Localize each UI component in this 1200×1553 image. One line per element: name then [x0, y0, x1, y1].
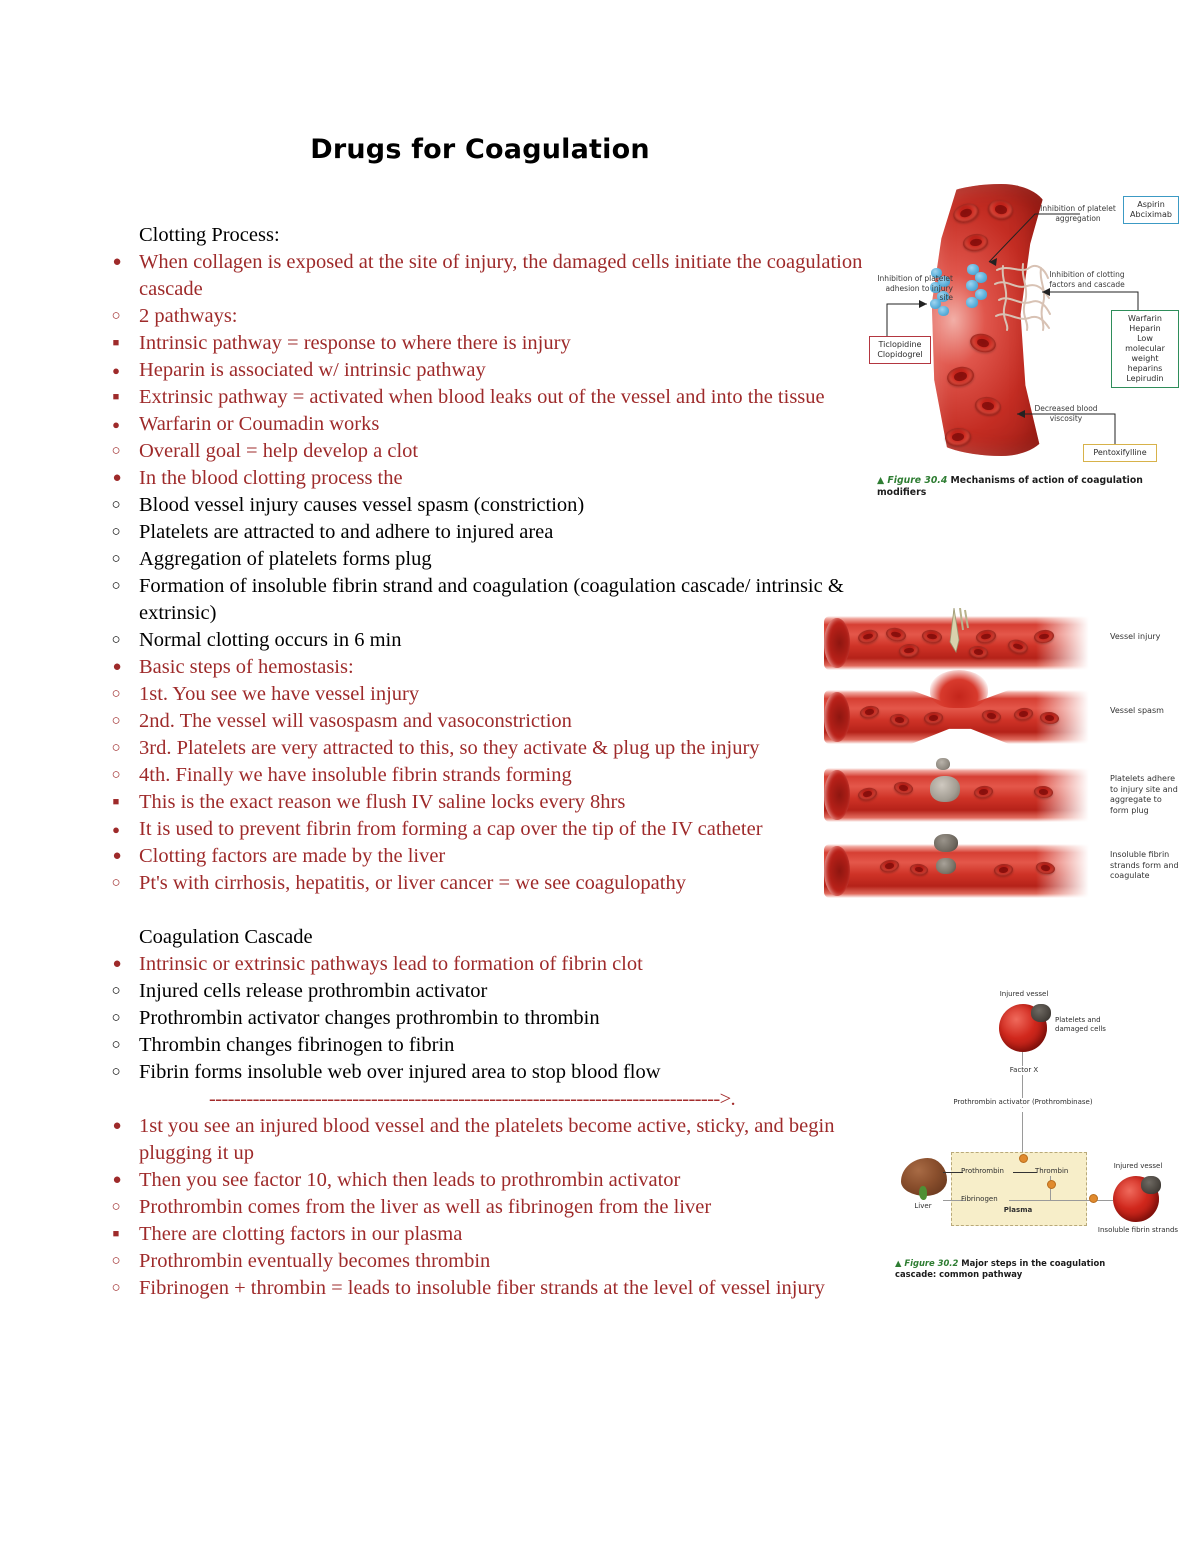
list-item: ■There are clotting factors in our plasm…	[139, 1221, 884, 1248]
bleeding-spot-icon	[930, 670, 988, 708]
list-item-text: Normal clotting occurs in 6 min	[139, 627, 884, 654]
bullet-list-level3: ■This is the exact reason we flush IV sa…	[139, 789, 884, 843]
bullet-square-icon: ■	[109, 330, 123, 357]
figure-30-2: Injured vessel Platelets and damaged cel…	[895, 990, 1185, 1300]
list-item-text: 2nd. The vessel will vasospasm and vasoc…	[139, 708, 884, 735]
list-item: ○Prothrombin comes from the liver as wel…	[139, 1194, 884, 1248]
label-factor-x: Factor X	[999, 1066, 1049, 1075]
list-item-text: Prothrombin activator changes prothrombi…	[139, 1005, 884, 1032]
bullet-disc-icon: ●	[110, 1113, 124, 1140]
caption-triangle-icon: ▲	[895, 1258, 901, 1268]
drug-box-pentoxifylline: Pentoxifylline	[1083, 444, 1157, 462]
list-item-text: Pt's with cirrhosis, hepatitis, or liver…	[139, 870, 884, 897]
bullet-circle-icon: ○	[109, 573, 123, 600]
list-item: ■Extrinsic pathway = activated when bloo…	[139, 384, 884, 438]
list-item: ○Prothrombin activator changes prothromb…	[139, 1005, 884, 1032]
list-item-text: 3rd. Platelets are very attracted to thi…	[139, 735, 884, 762]
drug-box-aspirin: Aspirin Abciximab	[1123, 196, 1179, 224]
bullet-list-level4: ●Warfarin or Coumadin works	[139, 411, 884, 438]
bullet-circle-icon: ○	[109, 519, 123, 546]
list-item: ○Blood vessel injury causes vessel spasm…	[139, 492, 884, 519]
list-item-text: Clotting factors are made by the liver	[139, 843, 884, 870]
bullet-circle-icon: ○	[109, 681, 123, 708]
section-heading-coagulation-cascade: Coagulation Cascade	[139, 924, 884, 951]
list-item-text: Intrinsic pathway = response to where th…	[139, 330, 884, 357]
document-page: Drugs for Coagulation Clotting Process: …	[0, 0, 1200, 1553]
list-item-text: Heparin is associated w/ intrinsic pathw…	[139, 357, 884, 384]
bullet-circle-icon: ○	[109, 1194, 123, 1221]
list-item-text: In the blood clotting process the	[139, 465, 884, 492]
section-heading-clotting-process: Clotting Process:	[139, 222, 884, 249]
bullet-circle-icon: ○	[109, 546, 123, 573]
caption-triangle-icon: ▲	[877, 475, 884, 486]
list-item: ○Overall goal = help develop a clot	[139, 438, 884, 465]
bullet-circle-icon: ○	[109, 708, 123, 735]
platelet-icon	[938, 306, 949, 316]
list-item: ○Fibrinogen + thrombin = leads to insolu…	[139, 1275, 959, 1302]
list-item-text: Platelets are attracted to and adhere to…	[139, 519, 884, 546]
drug-box-ticlopidine: Ticlopidine Clopidogrel	[869, 336, 931, 364]
bullet-list-level2: ○Injured cells release prothrombin activ…	[139, 978, 884, 1086]
bullet-disc-icon: ●	[110, 843, 124, 870]
enzyme-dot-icon	[1019, 1154, 1028, 1163]
bullet-list-level2: ○Prothrombin comes from the liver as wel…	[139, 1194, 884, 1302]
list-item-text: 2 pathways:	[139, 303, 884, 330]
dashed-arrow-divider: ----------------------------------------…	[209, 1086, 884, 1113]
figure-30-4: Inhibition of platelet aggregation Aspir…	[875, 182, 1180, 502]
cascade-arrow-3	[1022, 1112, 1023, 1156]
label-prothrombin-activator: Prothrombin activator (Prothrombinase)	[933, 1098, 1113, 1107]
bullet-circle-icon: ○	[109, 762, 123, 789]
list-item: ●Intrinsic or extrinsic pathways lead to…	[139, 951, 884, 1086]
label-fibrinogen: Fibrinogen	[961, 1195, 1011, 1204]
bullet-list-level3: ■Intrinsic pathway = response to where t…	[139, 330, 884, 438]
fibrin-clot-icon	[936, 858, 956, 874]
list-item-text: Basic steps of hemostasis:	[139, 654, 884, 681]
list-item-text: Blood vessel injury causes vessel spasm …	[139, 492, 884, 519]
list-item: ●Basic steps of hemostasis: ○1st. You se…	[139, 654, 884, 843]
bullet-disc-icon: ●	[109, 411, 123, 438]
list-item: ○Thrombin changes fibrinogen to fibrin	[139, 1032, 884, 1059]
list-item: ●1st you see an injured blood vessel and…	[139, 1113, 884, 1167]
enzyme-dot-icon	[1047, 1180, 1056, 1189]
step-label-insoluble-fibrin: Insoluble fibrin strands form and coagul…	[1110, 850, 1182, 882]
list-item: ●Then you see factor 10, which then lead…	[139, 1167, 884, 1302]
fibrin-clot-icon	[934, 834, 958, 852]
bullet-circle-icon: ○	[109, 627, 123, 654]
list-item-text: 4th. Finally we have insoluble fibrin st…	[139, 762, 884, 789]
bullet-list-level4: ●Heparin is associated w/ intrinsic path…	[139, 357, 884, 384]
list-item-text: Formation of insoluble fibrin strand and…	[139, 573, 884, 627]
list-item: ○Normal clotting occurs in 6 min	[139, 627, 884, 654]
label-injured-vessel-top: Injured vessel	[989, 990, 1059, 999]
section-spacer	[139, 897, 884, 924]
list-item-text: Intrinsic or extrinsic pathways lead to …	[139, 951, 884, 978]
bullet-circle-icon: ○	[109, 492, 123, 519]
bullet-circle-icon: ○	[109, 1059, 123, 1086]
list-item: ●When collagen is exposed at the site of…	[139, 249, 884, 465]
list-item: ○Aggregation of platelets forms plug	[139, 546, 884, 573]
bullet-list-level4: ●It is used to prevent fibrin from formi…	[139, 816, 884, 843]
list-item: ○Fibrin forms insoluble web over injured…	[139, 1059, 884, 1086]
platelet-damage-clot-icon	[1031, 1004, 1051, 1022]
list-item-text: It is used to prevent fibrin from formin…	[139, 816, 884, 843]
bullet-square-icon: ■	[109, 1221, 123, 1248]
caption-figure-number: Figure 30.2	[904, 1258, 958, 1268]
list-item-text: This is the exact reason we flush IV sal…	[139, 789, 884, 816]
list-item: ○Pt's with cirrhosis, hepatitis, or live…	[139, 870, 884, 897]
list-item: ■Intrinsic pathway = response to where t…	[139, 330, 884, 384]
bullet-list-level1-after: ●1st you see an injured blood vessel and…	[139, 1113, 884, 1302]
list-item-text: Fibrinogen + thrombin = leads to insolub…	[139, 1275, 959, 1302]
bullet-disc-icon: ●	[110, 465, 124, 492]
list-item: ○2 pathways: ■Intrinsic pathway = respon…	[139, 303, 884, 438]
bullet-disc-icon: ●	[110, 951, 124, 978]
list-item-text: Injured cells release prothrombin activa…	[139, 978, 884, 1005]
bullet-disc-icon: ●	[110, 1167, 124, 1194]
figure-hemostasis-steps: Vessel injury Vessel spasm Platelets adh…	[824, 608, 1184, 908]
drug-box-warfarin: Warfarin Heparin Low molecular weight he…	[1111, 310, 1179, 388]
list-item-text: Prothrombin comes from the liver as well…	[139, 1194, 884, 1221]
bullet-list-level3: ■There are clotting factors in our plasm…	[139, 1221, 884, 1248]
list-item: ○Platelets are attracted to and adhere t…	[139, 519, 884, 546]
figure-30-4-caption: ▲ Figure 30.4 Mechanisms of action of co…	[877, 475, 1181, 499]
list-item: ○4th. Finally we have insoluble fibrin s…	[139, 762, 884, 843]
label-insoluble-fibrin-strands: Insoluble fibrin strands	[1095, 1226, 1181, 1235]
list-item-text: Then you see factor 10, which then leads…	[139, 1167, 884, 1194]
list-item-text: Extrinsic pathway = activated when blood…	[139, 384, 884, 411]
platelet-clump-icon	[936, 758, 950, 770]
label-platelets-damaged-cells: Platelets and damaged cells	[1055, 1016, 1117, 1034]
gallbladder-icon	[919, 1186, 927, 1200]
platelet-plug-icon	[930, 776, 960, 802]
vessel-tube-fibrin	[824, 844, 1096, 898]
enzyme-dot-icon	[1089, 1194, 1098, 1203]
bullet-list-level2: ○2 pathways: ■Intrinsic pathway = respon…	[139, 303, 884, 465]
list-item-text: 1st. You see we have vessel injury	[139, 681, 884, 708]
bullet-list-level1: ●When collagen is exposed at the site of…	[139, 249, 884, 897]
prothrombin-to-thrombin-arrow	[1013, 1172, 1037, 1173]
list-item-text: There are clotting factors in our plasma	[139, 1221, 884, 1248]
bullet-disc-icon: ●	[110, 654, 124, 681]
bullet-circle-icon: ○	[109, 735, 123, 762]
list-item-text: Warfarin or Coumadin works	[139, 411, 884, 438]
bullet-list-level2: ○1st. You see we have vessel injury ○2nd…	[139, 681, 884, 843]
list-item: ●Warfarin or Coumadin works	[139, 411, 884, 438]
list-item: ●In the blood clotting process the ○Bloo…	[139, 465, 884, 654]
bullet-circle-icon: ○	[109, 870, 123, 897]
label-injured-vessel-right: Injured vessel	[1101, 1162, 1175, 1171]
list-item-text: Aggregation of platelets forms plug	[139, 546, 884, 573]
step-label-vessel-injury: Vessel injury	[1110, 632, 1180, 643]
list-item: ●Clotting factors are made by the liver …	[139, 843, 884, 897]
list-item: ○3rd. Platelets are very attracted to th…	[139, 735, 884, 762]
list-item-text: Overall goal = help develop a clot	[139, 438, 884, 465]
list-item: ●It is used to prevent fibrin from formi…	[139, 816, 884, 843]
list-item-text: Prothrombin eventually becomes thrombin	[139, 1248, 884, 1275]
leader-line-aggregation-icon	[975, 210, 1085, 272]
label-prothrombin: Prothrombin	[961, 1167, 1015, 1176]
list-item: ○1st. You see we have vessel injury	[139, 681, 884, 708]
caption-figure-number: Figure 30.4	[887, 475, 947, 486]
bullet-list-level2: ○Pt's with cirrhosis, hepatitis, or live…	[139, 870, 884, 897]
label-thrombin: Thrombin	[1035, 1167, 1081, 1176]
bullet-circle-icon: ○	[109, 438, 123, 465]
page-title: Drugs for Coagulation	[0, 134, 960, 165]
list-item: ○2nd. The vessel will vasospasm and vaso…	[139, 708, 884, 735]
step-label-platelets-adhere: Platelets adhere to injury site and aggr…	[1110, 774, 1182, 816]
list-item: ■This is the exact reason we flush IV sa…	[139, 789, 884, 843]
bullet-circle-icon: ○	[109, 978, 123, 1005]
bullet-list-level1: ●Intrinsic or extrinsic pathways lead to…	[139, 951, 884, 1086]
bullet-circle-icon: ○	[109, 1032, 123, 1059]
list-item: ●Heparin is associated w/ intrinsic path…	[139, 357, 884, 384]
bullet-list-level2: ○Blood vessel injury causes vessel spasm…	[139, 492, 884, 654]
bullet-disc-icon: ●	[109, 816, 123, 843]
bullet-disc-icon: ●	[109, 357, 123, 384]
bullet-circle-icon: ○	[109, 303, 123, 330]
list-item-text: Fibrin forms insoluble web over injured …	[139, 1059, 884, 1086]
platelet-icon	[966, 297, 978, 308]
figure-30-2-caption: ▲ Figure 30.2 Major steps in the coagula…	[895, 1258, 1145, 1280]
list-item-text: Thrombin changes fibrinogen to fibrin	[139, 1032, 884, 1059]
liver-to-prothrombin-arrow	[943, 1172, 963, 1173]
notes-body: Clotting Process: ●When collagen is expo…	[139, 222, 884, 1302]
bullet-circle-icon: ○	[109, 1248, 123, 1275]
bullet-circle-icon: ○	[109, 1275, 123, 1302]
bullet-disc-icon: ●	[110, 249, 124, 276]
bullet-square-icon: ■	[109, 384, 123, 411]
step-label-vessel-spasm: Vessel spasm	[1110, 706, 1180, 717]
bullet-square-icon: ■	[109, 789, 123, 816]
label-liver: Liver	[899, 1202, 947, 1211]
list-item: ○Prothrombin eventually becomes thrombin	[139, 1248, 884, 1275]
bullet-circle-icon: ○	[109, 1005, 123, 1032]
list-item: ○Formation of insoluble fibrin strand an…	[139, 573, 884, 627]
insoluble-fibrin-clot-icon	[1141, 1176, 1161, 1194]
list-item: ○Injured cells release prothrombin activ…	[139, 978, 884, 1005]
list-item-text: 1st you see an injured blood vessel and …	[139, 1113, 884, 1167]
list-item-text: When collagen is exposed at the site of …	[139, 249, 884, 303]
label-plasma: Plasma	[951, 1206, 1085, 1215]
